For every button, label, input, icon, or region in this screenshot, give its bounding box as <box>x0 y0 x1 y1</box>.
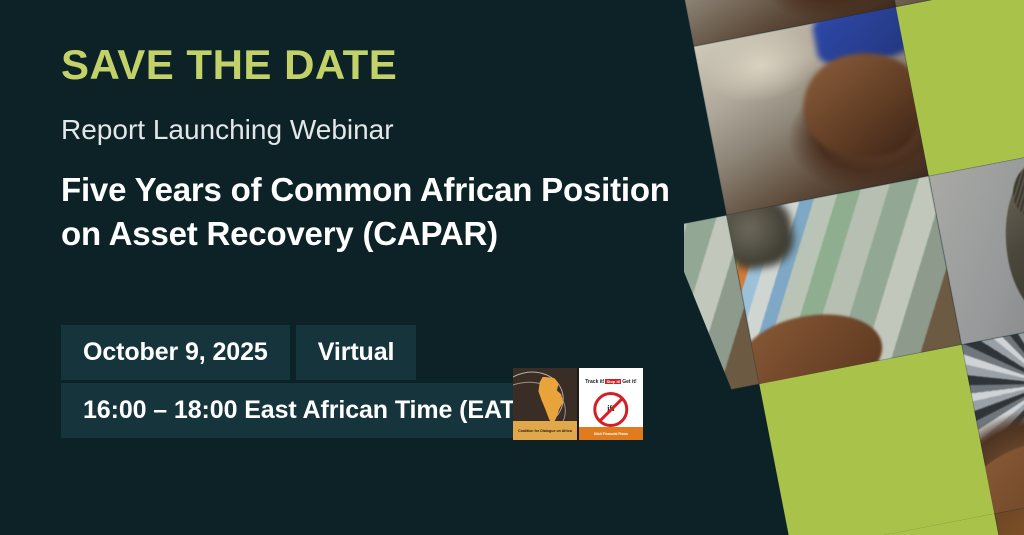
photo-collage <box>684 0 1024 535</box>
iff-logo: Track it! Stop it! Get it! iff Illicit F… <box>579 368 643 440</box>
iff-logo-caption: Illicit Financial Flows <box>579 427 643 440</box>
event-time-row: 16:00 – 18:00 East African Time (EAT) <box>61 383 545 438</box>
event-date-chip: October 9, 2025 <box>61 325 290 380</box>
coda-logo-caption: Coalition for Dialogue on Africa <box>513 421 577 440</box>
iff-slogan-get: Get it! <box>622 379 636 385</box>
iff-slogan: Track it! Stop it! Get it! <box>582 372 641 391</box>
prohibition-slash-icon <box>598 397 624 423</box>
coda-logo: Coalition for Dialogue on Africa <box>513 368 577 440</box>
event-time-chip: 16:00 – 18:00 East African Time (EAT) <box>61 383 545 438</box>
iff-caption-text: Illicit Financial Flows <box>594 432 628 436</box>
partner-logos: Coalition for Dialogue on Africa Track i… <box>513 368 643 440</box>
save-the-date-poster: SAVE THE DATE Report Launching Webinar F… <box>0 0 1024 535</box>
event-format-chip: Virtual <box>296 325 417 380</box>
coda-caption-text: Coalition for Dialogue on Africa <box>518 429 572 433</box>
collage-rotated-grid <box>684 0 1024 535</box>
iff-slogan-stop: Stop it! <box>605 379 621 384</box>
poster-content: SAVE THE DATE Report Launching Webinar F… <box>0 0 700 535</box>
prohibition-sign-icon: iff <box>593 392 628 427</box>
save-the-date-kicker: SAVE THE DATE <box>61 44 397 86</box>
collage-grid <box>684 0 1024 535</box>
event-subtitle: Report Launching Webinar <box>61 114 394 146</box>
event-meta-row: October 9, 2025 Virtual <box>61 325 416 380</box>
event-title: Five Years of Common African Position on… <box>61 168 701 255</box>
iff-slogan-track: Track it! <box>585 379 604 385</box>
